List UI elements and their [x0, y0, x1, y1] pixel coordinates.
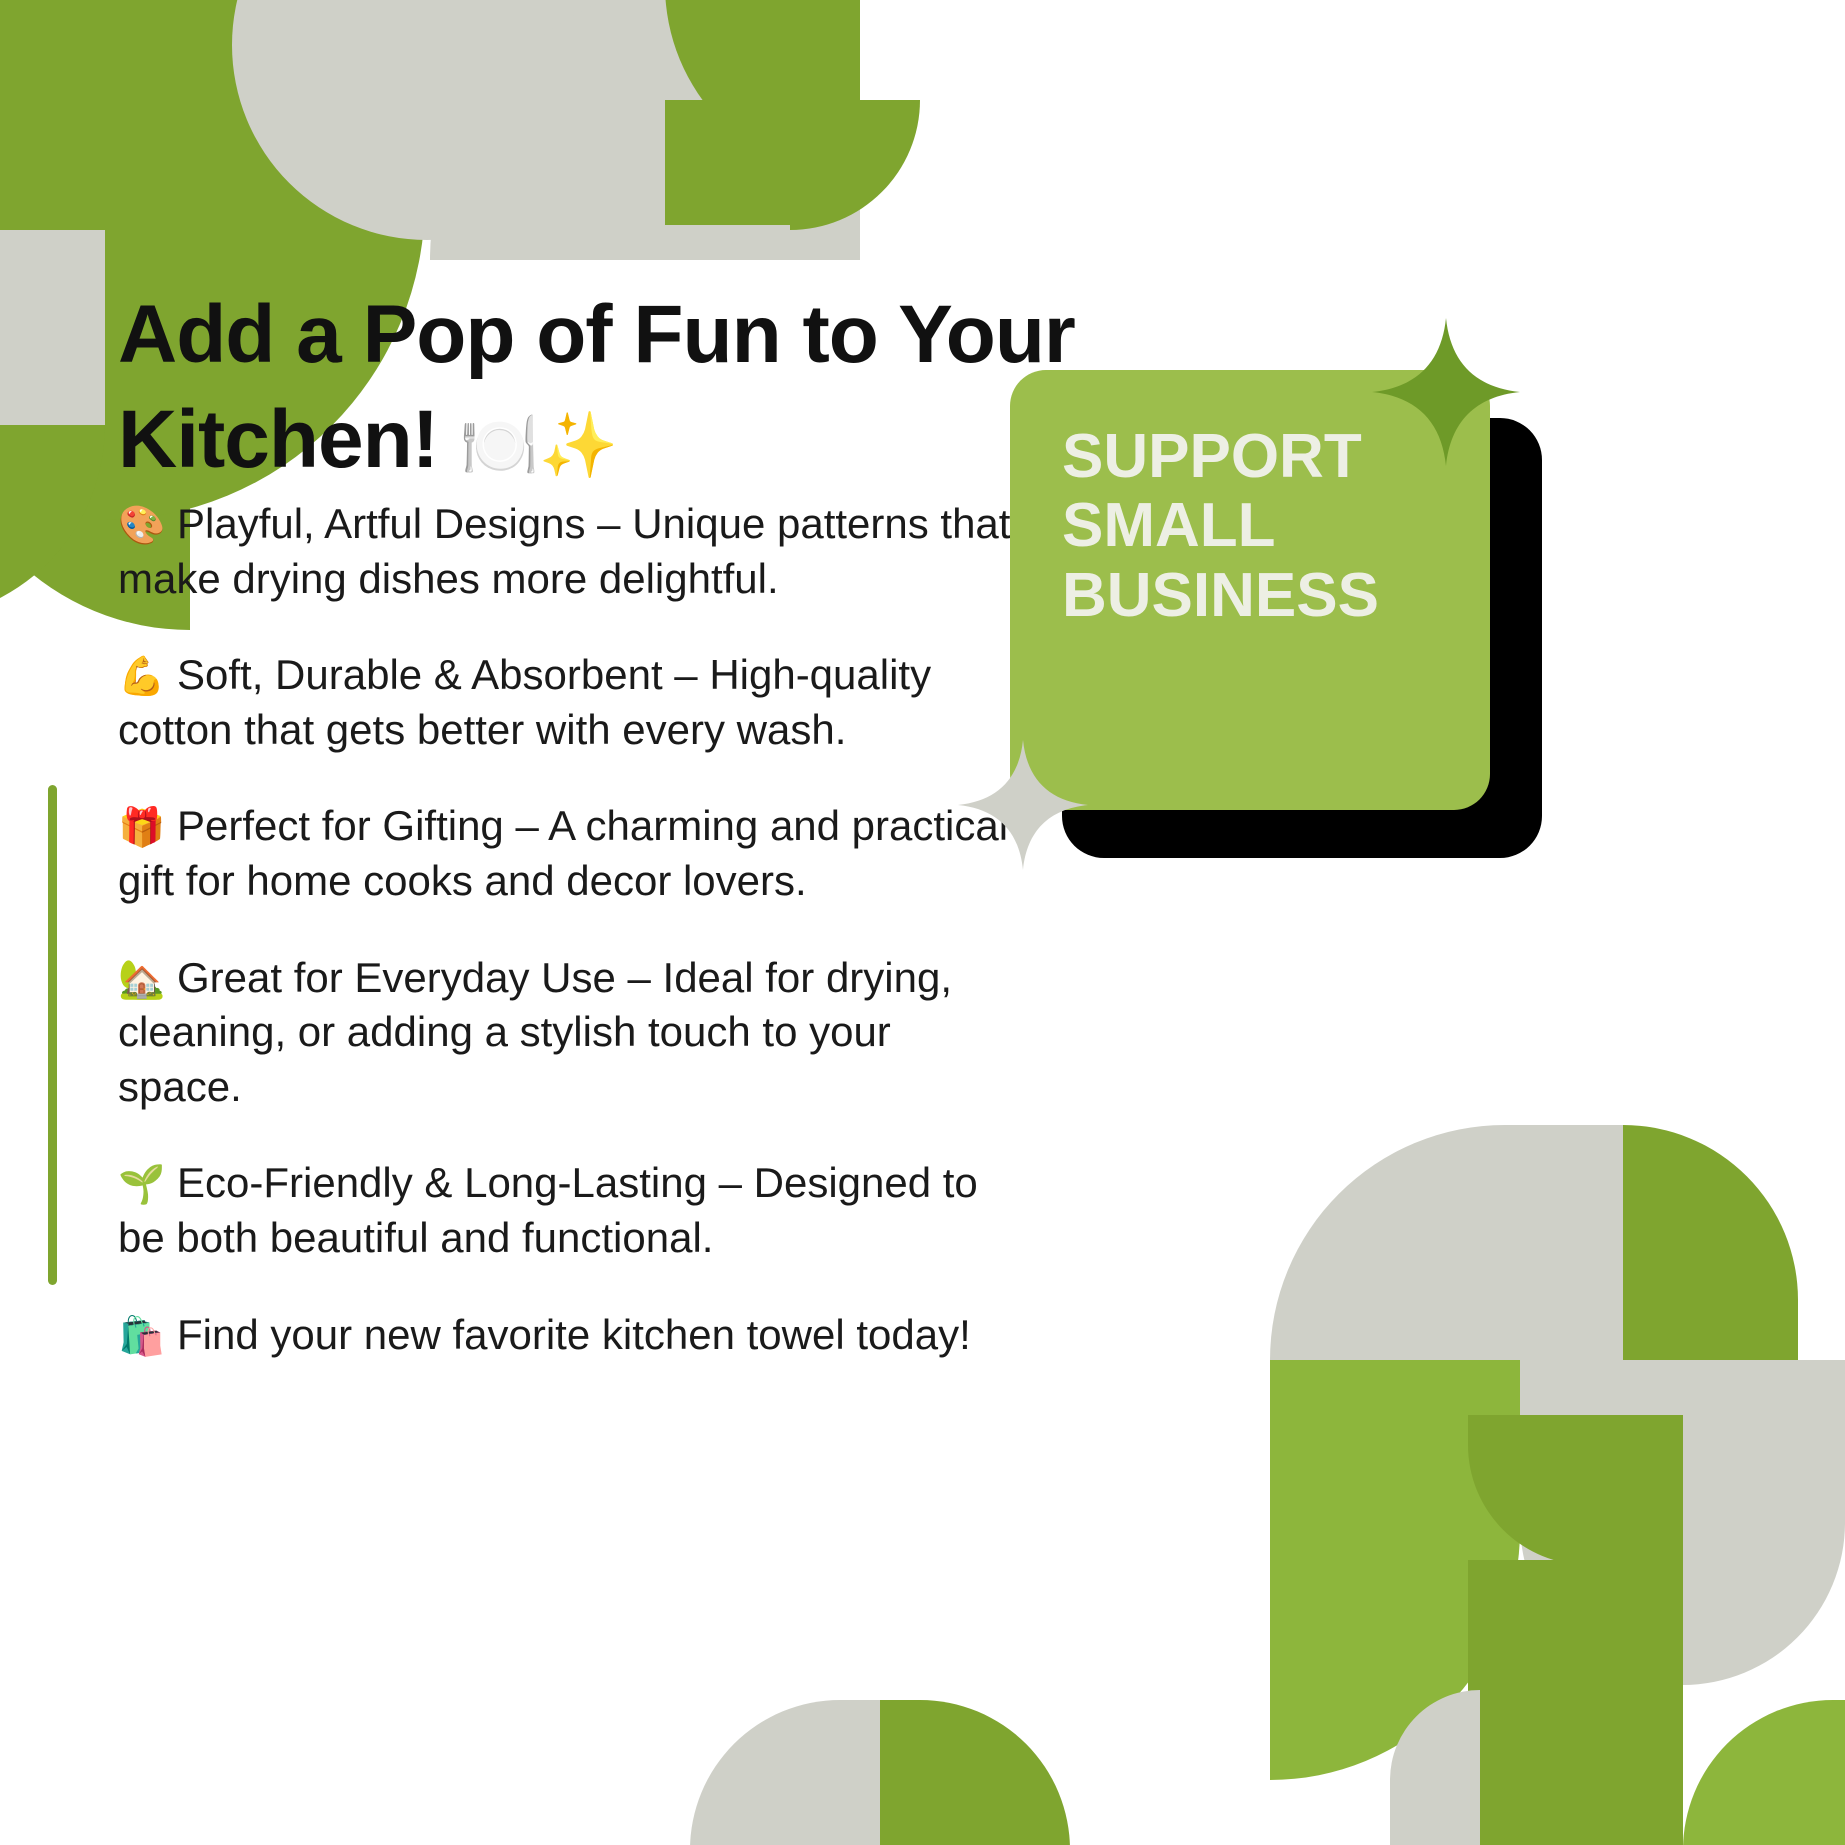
palette-icon: 🎨 — [118, 505, 165, 547]
deco-green-column-bottom-right — [1468, 1560, 1683, 1845]
list-item-text: Soft, Durable & Absorbent – High-quality… — [118, 651, 931, 753]
list-item: 🎨 Playful, Artful Designs – Unique patte… — [118, 497, 1018, 606]
badge-line-2: SMALL — [1062, 491, 1490, 560]
deco-gray-circle-bottom-right — [1520, 1360, 1845, 1685]
deco-gray-square-left — [0, 230, 105, 425]
list-item-text: Eco-Friendly & Long-Lasting – Designed t… — [118, 1159, 978, 1261]
poster-canvas: Add a Pop of Fun to Your Kitchen! 🍽️✨ 🎨 … — [0, 0, 1845, 1845]
list-item-text: Great for Everyday Use – Ideal for dryin… — [118, 954, 952, 1110]
deco-gray-quarter-top — [430, 0, 860, 260]
list-item: 🌱 Eco-Friendly & Long-Lasting – Designed… — [118, 1156, 1018, 1265]
deco-green-square-left — [0, 425, 105, 620]
deco-green-mid-bottom-right — [1468, 1415, 1683, 1565]
list-item: 🏡 Great for Everyday Use – Ideal for dry… — [118, 951, 1018, 1115]
shopping-bags-icon: 🛍️ — [118, 1316, 165, 1358]
deco-gray-square-bottom-right — [1505, 1125, 1623, 1360]
left-accent-rule — [48, 785, 57, 1285]
flexed-biceps-icon: 💪 — [118, 656, 165, 698]
list-item-text: Perfect for Gifting – A charming and pra… — [118, 802, 1008, 904]
deco-green-quarter-bottom-right — [1623, 1125, 1798, 1360]
list-item: 💪 Soft, Durable & Absorbent – High-quali… — [118, 648, 1018, 757]
feature-list: 🎨 Playful, Artful Designs – Unique patte… — [118, 455, 1018, 1404]
deco-green-round-corner-bottom-right — [1683, 1700, 1845, 1845]
deco-green-quarter-top — [665, 0, 860, 180]
sparkle-green-icon — [1372, 318, 1520, 466]
support-small-business-badge: SUPPORT SMALL BUSINESS — [1010, 370, 1570, 870]
list-item: 🛍️ Find your new favorite kitchen towel … — [118, 1308, 1018, 1363]
deco-gray-small-bottom-right — [1390, 1690, 1480, 1845]
badge-line-3: BUSINESS — [1062, 561, 1490, 630]
deco-green-large-bottom-right — [1270, 1360, 1520, 1780]
title-line-1: Add a Pop of Fun to Your — [118, 289, 1075, 380]
deco-green-square-top — [665, 100, 790, 225]
deco-gray-circle-top — [232, 0, 622, 240]
house-with-garden-icon: 🏡 — [118, 959, 165, 1001]
sparkle-gray-icon — [958, 740, 1088, 870]
seedling-icon: 🌱 — [118, 1164, 165, 1206]
deco-gray-quarter-bottom-right — [1270, 1125, 1505, 1360]
deco-gray-quarter-bottom-center — [690, 1700, 880, 1845]
gift-icon: 🎁 — [118, 807, 165, 849]
list-item-text: Find your new favorite kitchen towel tod… — [177, 1311, 971, 1358]
list-item: 🎁 Perfect for Gifting – A charming and p… — [118, 799, 1018, 908]
deco-green-quarter-bottom-center — [880, 1700, 1070, 1845]
deco-green-corner-top — [790, 100, 920, 230]
list-item-text: Playful, Artful Designs – Unique pattern… — [118, 500, 1010, 602]
